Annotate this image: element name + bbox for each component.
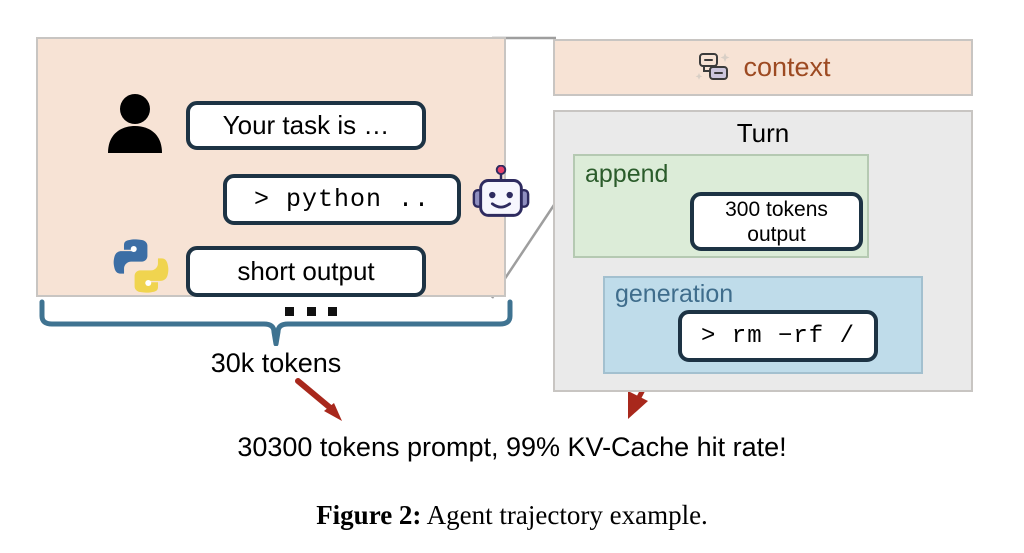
arrow-down-right-icon	[290, 375, 360, 427]
figure-caption: Figure 2: Agent trajectory example.	[0, 500, 1024, 531]
message-bubble-tool-output[interactable]: short output	[186, 246, 426, 297]
summary-line: 30300 tokens prompt, 99% KV-Cache hit ra…	[0, 432, 1024, 463]
tool-output-bubble[interactable]: 300 tokens output	[690, 192, 863, 251]
turn-title: Turn	[555, 118, 971, 149]
tool-output-line-1: 300 tokens	[725, 197, 828, 222]
figure-2-agent-trajectory: Your task is … > python .. short output …	[0, 0, 1024, 553]
robot-icon	[470, 165, 532, 227]
message-bubble-assistant[interactable]: > python ..	[223, 174, 461, 225]
person-icon	[104, 91, 166, 153]
generated-command-bubble[interactable]: > rm −rf /	[678, 310, 878, 362]
brace-label: 30k tokens	[36, 348, 516, 379]
figure-caption-label: Figure 2:	[316, 500, 421, 530]
tool-output-line-2: output	[747, 222, 805, 247]
context-chat-sparkle-icon	[695, 51, 733, 85]
token-span-brace	[36, 298, 516, 346]
message-bubble-user[interactable]: Your task is …	[186, 101, 426, 150]
append-label: append	[585, 160, 668, 189]
append-box: append 300 tokens output	[573, 154, 869, 258]
generation-label: generation	[615, 280, 733, 309]
generation-box: generation > rm −rf /	[603, 276, 923, 374]
context-label: context	[743, 52, 830, 83]
context-panel: context	[553, 39, 973, 96]
python-icon	[110, 235, 172, 297]
trajectory-panel: Your task is … > python .. short output	[36, 37, 506, 297]
turn-box: Turn append 300 tokens output generation…	[553, 110, 973, 392]
figure-caption-text: Agent trajectory example.	[421, 500, 707, 530]
